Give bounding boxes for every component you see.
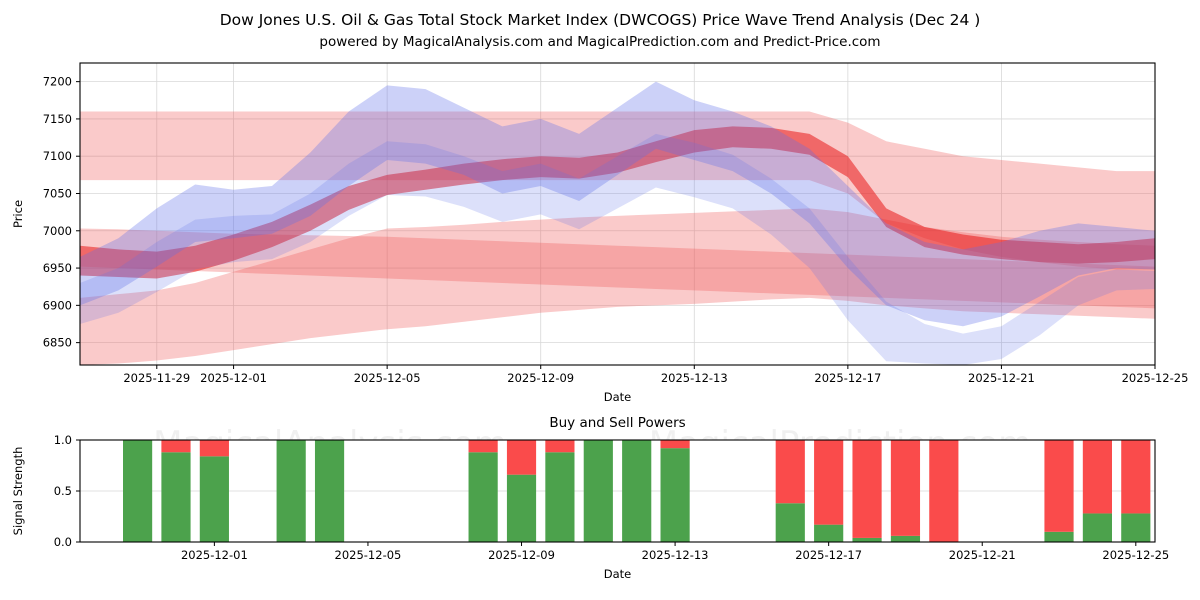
bar-sell-power[interactable] <box>814 440 843 525</box>
bar-buy-power[interactable] <box>776 503 805 542</box>
price-y-tick-label: 6900 <box>43 298 72 312</box>
bar-buy-power[interactable] <box>1121 513 1150 542</box>
bar-buy-power[interactable] <box>622 440 651 542</box>
price-y-tick-label: 7000 <box>43 224 72 238</box>
price-y-tick-label: 7050 <box>43 186 72 200</box>
powers-y-axis-label: Signal Strength <box>11 447 25 536</box>
bar-buy-power[interactable] <box>507 475 536 542</box>
price-y-axis-label: Price <box>11 200 25 228</box>
price-x-tick-label: 2025-12-09 <box>507 371 574 385</box>
price-x-tick-label: 2025-12-17 <box>814 371 881 385</box>
bar-sell-power[interactable] <box>200 440 229 456</box>
bar-buy-power[interactable] <box>161 452 190 542</box>
price-y-tick-label: 6850 <box>43 336 72 350</box>
bar-sell-power[interactable] <box>852 440 881 538</box>
powers-x-tick-label: 2025-12-25 <box>1102 548 1169 562</box>
bar-sell-power[interactable] <box>545 440 574 452</box>
bar-buy-power[interactable] <box>123 440 152 542</box>
bar-buy-power[interactable] <box>200 456 229 542</box>
powers-y-tick-label: 0.5 <box>54 484 72 498</box>
page-title: Dow Jones U.S. Oil & Gas Total Stock Mar… <box>220 11 981 29</box>
powers-x-tick-label: 2025-12-05 <box>335 548 402 562</box>
bar-buy-power[interactable] <box>661 448 690 542</box>
price-x-tick-label: 2025-12-05 <box>354 371 421 385</box>
bar-sell-power[interactable] <box>891 440 920 536</box>
bar-sell-power[interactable] <box>469 440 498 452</box>
bar-buy-power[interactable] <box>277 440 306 542</box>
bar-sell-power[interactable] <box>929 440 958 542</box>
bar-buy-power[interactable] <box>1083 513 1112 542</box>
bar-buy-power[interactable] <box>545 452 574 542</box>
bar-sell-power[interactable] <box>507 440 536 475</box>
price-x-tick-label: 2025-12-21 <box>968 371 1035 385</box>
price-y-tick-label: 7200 <box>43 75 72 89</box>
powers-y-tick-label: 0.0 <box>54 535 72 549</box>
bar-sell-power[interactable] <box>661 440 690 448</box>
powers-x-tick-label: 2025-12-21 <box>949 548 1016 562</box>
bar-sell-power[interactable] <box>1121 440 1150 513</box>
bar-buy-power[interactable] <box>584 440 613 542</box>
bar-sell-power[interactable] <box>776 440 805 503</box>
powers-x-tick-label: 2025-12-17 <box>795 548 862 562</box>
bar-sell-power[interactable] <box>1083 440 1112 513</box>
powers-chart-title: Buy and Sell Powers <box>549 415 685 431</box>
powers-x-axis-label: Date <box>604 567 632 581</box>
bar-buy-power[interactable] <box>852 538 881 542</box>
powers-y-tick-label: 1.0 <box>54 433 72 447</box>
powers-x-tick-label: 2025-12-01 <box>181 548 248 562</box>
bar-buy-power[interactable] <box>469 452 498 542</box>
powers-x-tick-label: 2025-12-09 <box>488 548 555 562</box>
bar-sell-power[interactable] <box>161 440 190 452</box>
price-x-tick-label: 2025-12-01 <box>200 371 267 385</box>
bar-buy-power[interactable] <box>891 536 920 542</box>
bar-buy-power[interactable] <box>315 440 344 542</box>
price-y-tick-label: 7150 <box>43 112 72 126</box>
price-x-tick-label: 2025-11-29 <box>123 371 190 385</box>
bar-buy-power[interactable] <box>814 525 843 542</box>
price-x-axis-label: Date <box>604 390 632 404</box>
price-y-tick-label: 6950 <box>43 261 72 275</box>
powers-x-tick-label: 2025-12-13 <box>642 548 709 562</box>
page-subtitle: powered by MagicalAnalysis.com and Magic… <box>319 34 880 50</box>
price-x-tick-label: 2025-12-25 <box>1122 371 1189 385</box>
bar-buy-power[interactable] <box>1044 532 1073 542</box>
price-wave-chart: 685069006950700070507100715072002025-11-… <box>11 63 1188 404</box>
bar-sell-power[interactable] <box>1044 440 1073 532</box>
price-y-tick-label: 7100 <box>43 149 72 163</box>
price-x-tick-label: 2025-12-13 <box>661 371 728 385</box>
chart-figure: Dow Jones U.S. Oil & Gas Total Stock Mar… <box>0 0 1200 600</box>
